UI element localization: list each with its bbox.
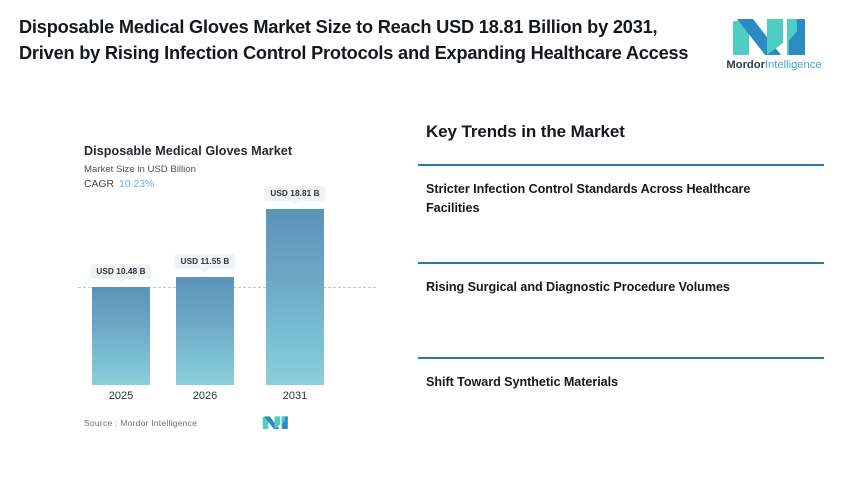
bar-group-2026: USD 11.55 B	[176, 193, 234, 385]
bar-value-label: USD 18.81 B	[264, 186, 325, 201]
trend-text: Shift Toward Synthetic Materials	[426, 373, 786, 392]
brand-logo: MordorIntelligence	[722, 13, 826, 79]
logo-word-intelligence: Intelligence	[765, 59, 822, 71]
key-trends-panel: Key Trends in the Market Stricter Infect…	[418, 122, 824, 447]
mordor-intelligence-logo-icon	[731, 13, 817, 57]
cagr-label: CAGR	[84, 179, 114, 190]
trend-item[interactable]: Rising Surgical and Diagnostic Procedure…	[418, 262, 824, 357]
cagr-value: 10.23%	[119, 179, 154, 190]
logo-wordmark: MordorIntelligence	[722, 58, 826, 72]
chart-source-label: Source : Mordor Intelligence	[84, 418, 197, 428]
chart-subtitle: Market Size in USD Billion	[84, 164, 196, 175]
trend-item[interactable]: Stricter Infection Control Standards Acr…	[418, 164, 824, 262]
bar-value-label: USD 10.48 B	[90, 264, 151, 279]
page-header: Disposable Medical Gloves Market Size to…	[0, 0, 860, 108]
x-tick-2026: 2026	[176, 390, 234, 402]
logo-word-mordor: Mordor	[726, 59, 765, 71]
chart-x-axis: 2025 2026 2031	[70, 390, 390, 408]
bar-group-2025: USD 10.48 B	[92, 193, 150, 385]
bar-value-label: USD 11.55 B	[175, 254, 236, 269]
bar-2025[interactable]	[92, 287, 150, 385]
bar-2031[interactable]	[266, 209, 324, 385]
x-tick-2025: 2025	[92, 390, 150, 402]
trend-text: Rising Surgical and Diagnostic Procedure…	[426, 278, 786, 297]
trend-item[interactable]: Shift Toward Synthetic Materials	[418, 357, 824, 447]
x-tick-2031: 2031	[266, 390, 324, 402]
trend-text: Stricter Infection Control Standards Acr…	[426, 180, 786, 218]
chart-plot-area: USD 10.48 B USD 11.55 B USD 18.81 B	[70, 193, 390, 385]
chart-cagr: CAGR10.23%	[84, 179, 154, 190]
bar-2026[interactable]	[176, 277, 234, 385]
chart-title: Disposable Medical Gloves Market	[84, 144, 292, 158]
market-size-chart: Disposable Medical Gloves Market Market …	[70, 138, 390, 448]
bar-group-2031: USD 18.81 B	[266, 193, 324, 385]
trends-title: Key Trends in the Market	[418, 122, 824, 142]
page-title: Disposable Medical Gloves Market Size to…	[19, 14, 699, 66]
mordor-intelligence-mark-icon	[262, 414, 292, 430]
